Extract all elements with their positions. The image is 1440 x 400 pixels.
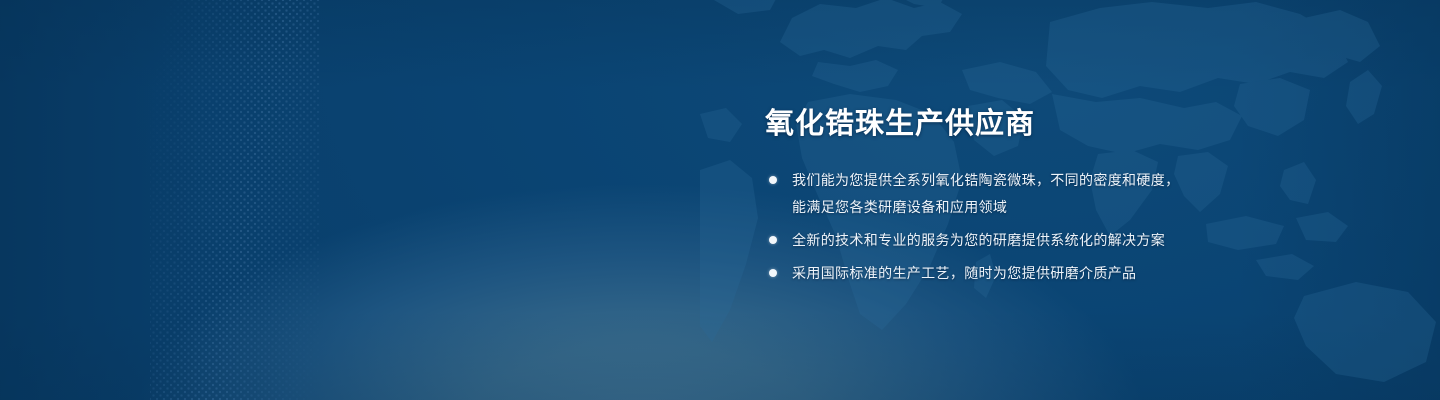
list-item: 采用国际标准的生产工艺，随时为您提供研磨介质产品	[765, 261, 1285, 285]
banner-copy: 氧化锆珠生产供应商 我们能为您提供全系列氧化锆陶瓷微珠，不同的密度和硬度， 能满…	[765, 104, 1285, 285]
bullet-dot-icon	[769, 176, 777, 184]
list-item: 我们能为您提供全系列氧化锆陶瓷微珠，不同的密度和硬度， 能满足您各类研磨设备和应…	[765, 168, 1285, 219]
list-item-line-1: 我们能为您提供全系列氧化锆陶瓷微珠，不同的密度和硬度，	[792, 168, 1285, 192]
list-item-line-1: 全新的技术和专业的服务为您的研磨提供系统化的解决方案	[792, 228, 1285, 252]
feature-list: 我们能为您提供全系列氧化锆陶瓷微珠，不同的密度和硬度， 能满足您各类研磨设备和应…	[765, 168, 1285, 285]
bullet-dot-icon	[769, 269, 777, 277]
zirconia-beads-photo	[150, 0, 710, 400]
list-item-line-2: 能满足您各类研磨设备和应用领域	[792, 195, 1285, 219]
list-item: 全新的技术和专业的服务为您的研磨提供系统化的解决方案	[765, 228, 1285, 252]
hero-banner: 氧化锆珠生产供应商 我们能为您提供全系列氧化锆陶瓷微珠，不同的密度和硬度， 能满…	[0, 0, 1440, 400]
bullet-dot-icon	[769, 236, 777, 244]
page-title: 氧化锆珠生产供应商	[765, 104, 1285, 144]
list-item-line-1: 采用国际标准的生产工艺，随时为您提供研磨介质产品	[792, 261, 1285, 285]
beads-illustration	[150, 0, 710, 400]
